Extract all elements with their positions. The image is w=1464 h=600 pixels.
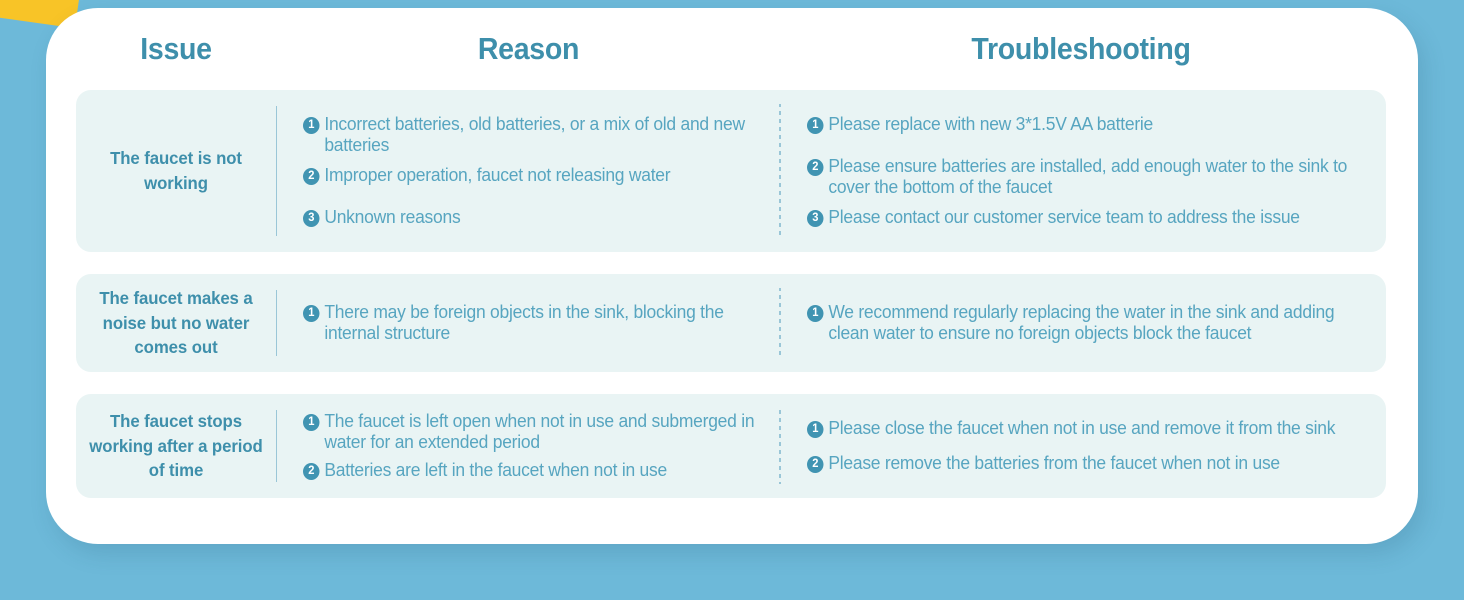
badge-number: 3	[807, 210, 823, 227]
list-item: 2 Please ensure batteries are installed,…	[807, 156, 1355, 198]
list-item: 1 We recommend regularly replacing the w…	[807, 302, 1355, 344]
badge-number: 1	[303, 414, 319, 431]
table-body: The faucet is not working 1 Incorrect ba…	[46, 90, 1418, 498]
table-row: The faucet makes a noise but no water co…	[76, 274, 1386, 372]
badge-number: 2	[303, 463, 319, 480]
column-header-reason: Reason	[296, 31, 761, 67]
badge-number: 1	[807, 421, 823, 438]
column-header-troubleshooting: Troubleshooting	[805, 31, 1357, 67]
list-item-text: Please replace with new 3*1.5V AA batter…	[828, 114, 1355, 135]
table-row: The faucet is not working 1 Incorrect ba…	[76, 90, 1386, 252]
reason-cell: 1 There may be foreign objects in the si…	[277, 274, 779, 372]
list-item-text: Incorrect batteries, old batteries, or a…	[324, 114, 755, 156]
badge-number: 3	[303, 210, 319, 227]
badge-number: 1	[303, 305, 319, 322]
troubleshooting-cell: 1 We recommend regularly replacing the w…	[781, 274, 1386, 372]
list-item-text: We recommend regularly replacing the wat…	[828, 302, 1355, 344]
table-row: The faucet stops working after a period …	[76, 394, 1386, 498]
column-header-issue: Issue	[84, 31, 268, 67]
badge-number: 2	[807, 159, 823, 176]
list-item: 2 Improper operation, faucet not releasi…	[303, 165, 755, 186]
troubleshooting-card: Issue Reason Troubleshooting The faucet …	[46, 8, 1418, 544]
issue-cell: The faucet stops working after a period …	[80, 394, 272, 498]
troubleshooting-cell: 1 Please close the faucet when not in us…	[781, 394, 1386, 498]
list-item-text: Please remove the batteries from the fau…	[828, 453, 1355, 474]
list-item-text: Please contact our customer service team…	[828, 207, 1355, 228]
badge-number: 1	[807, 305, 823, 322]
table-header: Issue Reason Troubleshooting	[46, 8, 1418, 90]
list-item: 1 Please close the faucet when not in us…	[807, 418, 1355, 439]
list-item: 3 Unknown reasons	[303, 207, 755, 228]
list-item: 2 Please remove the batteries from the f…	[807, 453, 1355, 474]
list-item: 1 The faucet is left open when not in us…	[303, 411, 755, 453]
badge-number: 1	[807, 117, 823, 134]
list-item-text: Improper operation, faucet not releasing…	[324, 165, 755, 186]
badge-number: 2	[807, 456, 823, 473]
list-item-text: Batteries are left in the faucet when no…	[324, 460, 755, 481]
issue-cell: The faucet is not working	[80, 90, 272, 252]
issue-cell: The faucet makes a noise but no water co…	[80, 274, 272, 372]
badge-number: 2	[303, 168, 319, 185]
reason-cell: 1 Incorrect batteries, old batteries, or…	[277, 90, 779, 252]
list-item: 1 Please replace with new 3*1.5V AA batt…	[807, 114, 1355, 135]
list-item: 3 Please contact our customer service te…	[807, 207, 1355, 228]
reason-cell: 1 The faucet is left open when not in us…	[277, 394, 779, 498]
list-item-text: Unknown reasons	[324, 207, 755, 228]
list-item-text: Please ensure batteries are installed, a…	[828, 156, 1355, 198]
badge-number: 1	[303, 117, 319, 134]
list-item-text: Please close the faucet when not in use …	[828, 418, 1355, 439]
troubleshooting-cell: 1 Please replace with new 3*1.5V AA batt…	[781, 90, 1386, 252]
list-item-text: There may be foreign objects in the sink…	[324, 302, 755, 344]
list-item: 2 Batteries are left in the faucet when …	[303, 460, 755, 481]
list-item: 1 There may be foreign objects in the si…	[303, 302, 755, 344]
list-item-text: The faucet is left open when not in use …	[324, 411, 755, 453]
list-item: 1 Incorrect batteries, old batteries, or…	[303, 114, 755, 156]
